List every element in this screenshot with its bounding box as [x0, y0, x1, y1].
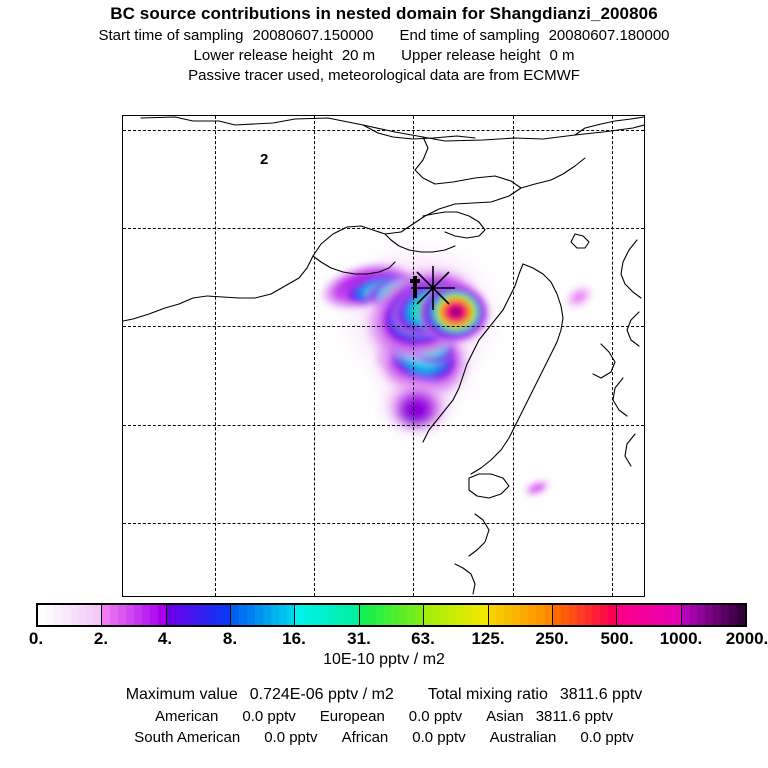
- colorbar[interactable]: [36, 603, 747, 627]
- colorbar-step: [600, 605, 608, 625]
- colorbar-step: [399, 605, 407, 625]
- colorbar-step: [721, 605, 729, 625]
- colorbar-step: [118, 605, 126, 625]
- colorbar-step: [222, 605, 230, 625]
- colorbar-step: [335, 605, 343, 625]
- colorbar-step: [70, 605, 78, 625]
- colorbar-segment-2: [167, 605, 231, 625]
- colorbar-step: [633, 605, 641, 625]
- colorbar-tick-labels: 0.2.4.8.16.31.63.125.250.500.1000.2000.: [0, 629, 768, 651]
- colorbar-step: [287, 605, 295, 625]
- colorbar-unit-label: 10E-10 pptv / m2: [0, 651, 768, 669]
- colorbar-step: [190, 605, 198, 625]
- colorbar-step: [569, 605, 577, 625]
- colorbar-step: [673, 605, 681, 625]
- colorbar-step: [415, 605, 423, 625]
- end-time-label: End time of sampling: [399, 27, 539, 44]
- colorbar-step: [311, 605, 319, 625]
- max-value-label: Maximum value: [126, 686, 238, 703]
- colorbar-step: [214, 605, 222, 625]
- colorbar-step: [247, 605, 255, 625]
- page-title: BC source contributions in nested domain…: [0, 4, 768, 24]
- colorbar-step: [625, 605, 633, 625]
- summary-line: Maximum value0.724E-06 pptv / m2Total mi…: [0, 686, 768, 704]
- colorbar-step: [167, 605, 175, 625]
- colorbar-step: [102, 605, 110, 625]
- lower-height-label: Lower release height: [194, 47, 333, 64]
- colorbar-step: [93, 605, 101, 625]
- colorbar-step: [697, 605, 705, 625]
- colorbar-step: [343, 605, 351, 625]
- lower-height-value: 20 m: [342, 47, 375, 64]
- colorbar-segment-5: [360, 605, 424, 625]
- colorbar-step: [729, 605, 737, 625]
- colorbar-step: [665, 605, 673, 625]
- region-value-european: 0.0 pptv: [409, 708, 462, 725]
- total-ratio-label: Total mixing ratio: [428, 686, 548, 703]
- release-height-line: Lower release height20 mUpper release he…: [0, 47, 768, 64]
- colorbar-step: [319, 605, 327, 625]
- colorbar-step: [327, 605, 335, 625]
- region-name-asian: Asian: [486, 708, 524, 725]
- colorbar-tick-0: 0.: [29, 629, 43, 649]
- colorbar-step: [713, 605, 721, 625]
- region-value-australian: 0.0 pptv: [580, 729, 633, 746]
- region-name-african: African: [342, 729, 389, 746]
- colorbar-step: [158, 605, 166, 625]
- region-row-2: South American0.0 pptvAfrican0.0 pptvAus…: [0, 729, 768, 746]
- colorbar-step: [263, 605, 271, 625]
- region-value-asian: 3811.6 pptv: [536, 708, 613, 725]
- colorbar-segment-4: [295, 605, 359, 625]
- colorbar-segment-10: [682, 605, 745, 625]
- colorbar-step: [504, 605, 512, 625]
- colorbar-step: [472, 605, 480, 625]
- colorbar-step: [46, 605, 54, 625]
- colorbar-step: [649, 605, 657, 625]
- colorbar-tick-4: 16.: [282, 629, 306, 649]
- sampling-time-line: Start time of sampling20080607.150000End…: [0, 27, 768, 44]
- colorbar-step: [456, 605, 464, 625]
- colorbar-step: [737, 605, 745, 625]
- colorbar-step: [512, 605, 520, 625]
- colorbar-step: [376, 605, 384, 625]
- coastline-overlay: [123, 116, 644, 596]
- colorbar-step: [255, 605, 263, 625]
- region-row-1: American0.0 pptvEuropean0.0 pptvAsian381…: [0, 708, 768, 725]
- colorbar-step: [407, 605, 415, 625]
- colorbar-step: [150, 605, 158, 625]
- colorbar-tick-1: 2.: [94, 629, 108, 649]
- colorbar-tick-8: 250.: [535, 629, 568, 649]
- colorbar-step: [496, 605, 504, 625]
- region-name-european: European: [320, 708, 385, 725]
- colorbar-step: [38, 605, 46, 625]
- colorbar-step: [682, 605, 690, 625]
- colorbar-step: [175, 605, 183, 625]
- colorbar-step: [520, 605, 528, 625]
- colorbar-tick-5: 31.: [347, 629, 371, 649]
- colorbar-tick-7: 125.: [471, 629, 504, 649]
- colorbar-segment-0: [38, 605, 102, 625]
- domain-number-label: 2: [260, 152, 268, 167]
- colorbar-step: [368, 605, 376, 625]
- map-panel[interactable]: 2: [122, 115, 645, 597]
- colorbar-step: [577, 605, 585, 625]
- colorbar-step: [54, 605, 62, 625]
- start-time-value: 20080607.150000: [253, 27, 374, 44]
- colorbar-step: [231, 605, 239, 625]
- colorbar-step: [360, 605, 368, 625]
- colorbar-step: [126, 605, 134, 625]
- colorbar-step: [432, 605, 440, 625]
- max-value-value: 0.724E-06 pptv / m2: [250, 686, 394, 703]
- region-value-south-american: 0.0 pptv: [264, 729, 317, 746]
- region-name-south-american: South American: [134, 729, 240, 746]
- colorbar-step: [424, 605, 432, 625]
- total-ratio-value: 3811.6 pptv: [560, 686, 642, 703]
- colorbar-step: [351, 605, 359, 625]
- colorbar-tick-3: 8.: [223, 629, 237, 649]
- colorbar-segment-6: [424, 605, 488, 625]
- end-time-value: 20080607.180000: [549, 27, 670, 44]
- colorbar-step: [183, 605, 191, 625]
- colorbar-step: [303, 605, 311, 625]
- colorbar-tick-9: 500.: [600, 629, 633, 649]
- colorbar-step: [86, 605, 94, 625]
- colorbar-step: [78, 605, 86, 625]
- colorbar-step: [134, 605, 142, 625]
- colorbar-tick-6: 63.: [411, 629, 435, 649]
- colorbar-step: [592, 605, 600, 625]
- colorbar-step: [705, 605, 713, 625]
- start-time-label: Start time of sampling: [98, 27, 243, 44]
- map-canvas: 2: [123, 116, 644, 596]
- colorbar-step: [690, 605, 698, 625]
- colorbar-step: [464, 605, 472, 625]
- colorbar-tick-10: 1000.: [660, 629, 703, 649]
- region-name-australian: Australian: [490, 729, 557, 746]
- colorbar-tick-11: 2000.: [726, 629, 768, 649]
- colorbar-step: [271, 605, 279, 625]
- colorbar-step: [391, 605, 399, 625]
- colorbar-step: [553, 605, 561, 625]
- colorbar-step: [641, 605, 649, 625]
- region-name-american: American: [155, 708, 218, 725]
- colorbar-segment-8: [553, 605, 617, 625]
- colorbar-step: [142, 605, 150, 625]
- tracer-note: Passive tracer used, meteorological data…: [0, 67, 768, 84]
- upper-height-label: Upper release height: [401, 47, 540, 64]
- header-block: BC source contributions in nested domain…: [0, 0, 768, 84]
- footer-block: Maximum value0.724E-06 pptv / m2Total mi…: [0, 686, 768, 746]
- colorbar-step: [480, 605, 488, 625]
- colorbar-step: [110, 605, 118, 625]
- colorbar-step: [279, 605, 287, 625]
- colorbar-step: [239, 605, 247, 625]
- colorbar-step: [489, 605, 497, 625]
- colorbar-step: [585, 605, 593, 625]
- colorbar-step: [561, 605, 569, 625]
- colorbar-step: [617, 605, 625, 625]
- colorbar-step: [62, 605, 70, 625]
- colorbar-step: [608, 605, 616, 625]
- colorbar-segment-9: [617, 605, 681, 625]
- colorbar-step: [440, 605, 448, 625]
- upper-height-value: 0 m: [549, 47, 574, 64]
- colorbar-step: [384, 605, 392, 625]
- colorbar-tick-2: 4.: [158, 629, 172, 649]
- region-value-african: 0.0 pptv: [412, 729, 465, 746]
- release-site-star-icon: [410, 265, 456, 311]
- colorbar-segment-1: [102, 605, 166, 625]
- colorbar-step: [536, 605, 544, 625]
- colorbar-step: [448, 605, 456, 625]
- colorbar-step: [528, 605, 536, 625]
- colorbar-step: [198, 605, 206, 625]
- colorbar-step: [206, 605, 214, 625]
- colorbar-segment-3: [231, 605, 295, 625]
- colorbar-segment-7: [489, 605, 553, 625]
- region-value-american: 0.0 pptv: [242, 708, 295, 725]
- colorbar-step: [544, 605, 552, 625]
- colorbar-step: [295, 605, 303, 625]
- colorbar-step: [657, 605, 665, 625]
